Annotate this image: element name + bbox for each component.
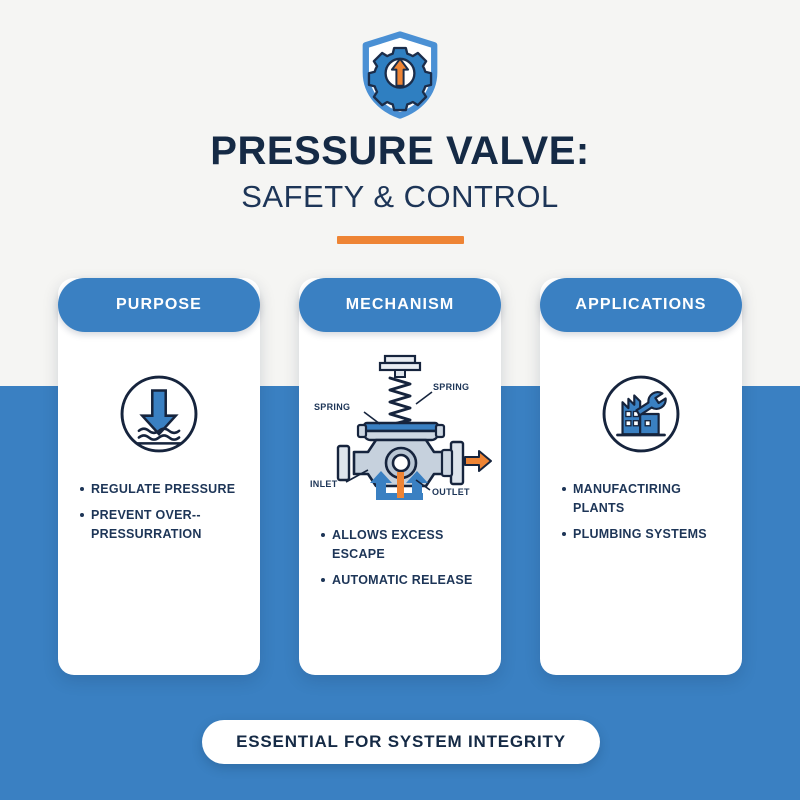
bullets-purpose: REGULATE PRESSURE PREVENT OVER--PRESSURR… (58, 480, 260, 550)
pressure-down-arrow-waves-icon (117, 372, 201, 456)
shield-gear-arrow-icon (355, 30, 445, 120)
diagram-label-spring-right: SPRING (433, 382, 469, 392)
icon-slot-mechanism: SPRING SPRING INLET OUTLET (302, 350, 498, 500)
list-item: AUTOMATIC RELEASE (321, 571, 487, 590)
list-item: MANUFACTIRING PLANTS (562, 480, 728, 518)
bullet-text: ALLOWS EXCESS ESCAPE (332, 526, 487, 564)
card-applications[interactable]: APPLICATIONS (540, 278, 742, 675)
page-title: PRESSURE VALVE: (0, 130, 800, 172)
bullet-dot-icon (80, 513, 84, 517)
card-body-applications: MANUFACTIRING PLANTS PLUMBING SYSTEMS (540, 332, 742, 675)
logo-container (0, 30, 800, 120)
factory-wrench-icon (599, 372, 683, 456)
diagram-label-spring-left: SPRING (314, 402, 350, 412)
card-purpose[interactable]: PURPOSE REGULATE PRESSURE (58, 278, 260, 675)
card-body-purpose: REGULATE PRESSURE PREVENT OVER--PRESSURR… (58, 332, 260, 675)
title-block: PRESSURE VALVE: SAFETY & CONTROL (0, 130, 800, 244)
footer-banner[interactable]: ESSENTIAL FOR SYSTEM INTEGRITY (202, 720, 600, 764)
bullets-applications: MANUFACTIRING PLANTS PLUMBING SYSTEMS (540, 480, 742, 550)
card-mechanism[interactable]: MECHANISM (299, 278, 501, 675)
list-item: PLUMBING SYSTEMS (562, 525, 728, 544)
card-header-applications[interactable]: APPLICATIONS (540, 278, 742, 332)
card-title-purpose: PURPOSE (116, 296, 202, 314)
bullet-dot-icon (562, 487, 566, 491)
card-header-purpose[interactable]: PURPOSE (58, 278, 260, 332)
diagram-label-inlet: INLET (310, 479, 338, 489)
footer-label: ESSENTIAL FOR SYSTEM INTEGRITY (236, 732, 566, 752)
infographic-canvas: PRESSURE VALVE: SAFETY & CONTROL PURPOSE (0, 0, 800, 800)
bullet-text: AUTOMATIC RELEASE (332, 571, 487, 590)
bullet-dot-icon (80, 487, 84, 491)
valve-diagram-icon: SPRING SPRING INLET OUTLET (302, 350, 498, 500)
bullet-text: MANUFACTIRING PLANTS (573, 480, 728, 518)
card-header-mechanism[interactable]: MECHANISM (299, 278, 501, 332)
cards-row: PURPOSE REGULATE PRESSURE (0, 278, 800, 678)
bullet-dot-icon (321, 578, 325, 582)
icon-slot-applications (599, 366, 683, 462)
bullet-dot-icon (562, 532, 566, 536)
page-subtitle: SAFETY & CONTROL (0, 180, 800, 214)
bullets-mechanism: ALLOWS EXCESS ESCAPE AUTOMATIC RELEASE (299, 526, 501, 596)
bullet-text: REGULATE PRESSURE (91, 480, 246, 499)
card-title-applications: APPLICATIONS (575, 296, 706, 314)
bullet-text: PLUMBING SYSTEMS (573, 525, 728, 544)
icon-slot-purpose (117, 366, 201, 462)
card-title-mechanism: MECHANISM (346, 296, 455, 314)
list-item: ALLOWS EXCESS ESCAPE (321, 526, 487, 564)
card-body-mechanism: SPRING SPRING INLET OUTLET ALLOWS EXCESS… (299, 332, 501, 675)
bullet-dot-icon (321, 533, 325, 537)
list-item: PREVENT OVER--PRESSURRATION (80, 506, 246, 544)
orange-divider (337, 236, 464, 244)
diagram-label-outlet: OUTLET (432, 487, 470, 497)
list-item: REGULATE PRESSURE (80, 480, 246, 499)
bullet-text: PREVENT OVER--PRESSURRATION (91, 506, 246, 544)
